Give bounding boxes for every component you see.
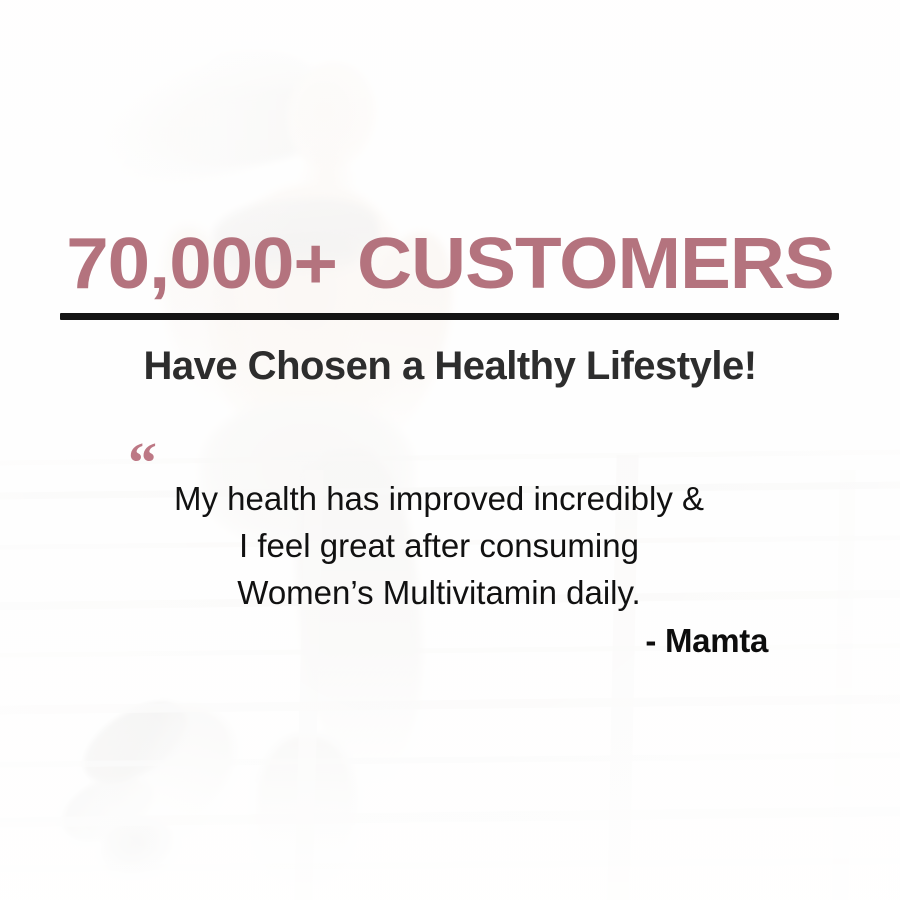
testimonial-text: My health has improved incredibly & I fe… <box>0 476 900 617</box>
page-title: 70,000+ CUSTOMERS <box>0 228 900 300</box>
quote-open-icon: “ <box>128 440 157 486</box>
page-subtitle: Have Chosen a Healthy Lifestyle! <box>0 344 900 389</box>
testimonial-block: “ My health has improved incredibly & I … <box>0 440 900 617</box>
testimonial-banner: 70,000+ CUSTOMERS Have Chosen a Healthy … <box>0 0 900 900</box>
testimonial-line: I feel great after consuming <box>0 523 878 570</box>
testimonial-author: - Mamta <box>645 622 768 660</box>
title-divider <box>60 313 839 320</box>
testimonial-line: Women’s Multivitamin daily. <box>0 570 878 617</box>
banner-content: 70,000+ CUSTOMERS Have Chosen a Healthy … <box>0 0 900 900</box>
